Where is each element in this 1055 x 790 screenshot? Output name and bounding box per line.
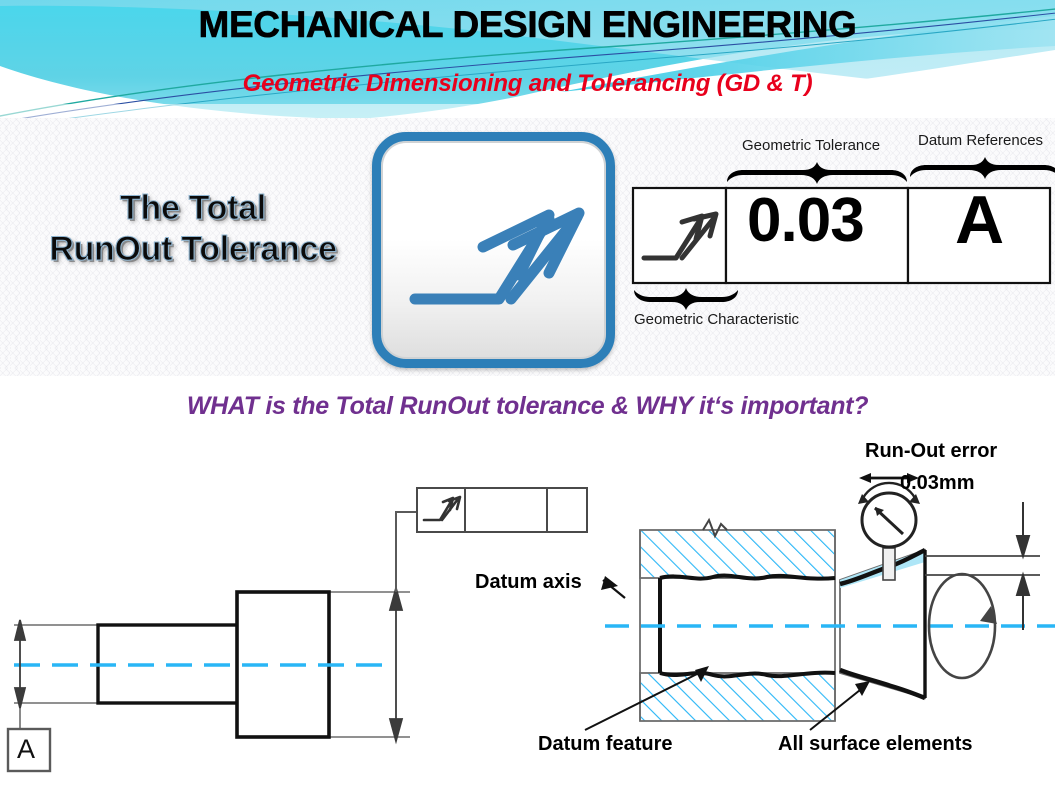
total-runout-icon-tile — [372, 132, 615, 368]
feature-control-frame-diagram: Geometric Tolerance Datum References Geo… — [630, 132, 1055, 342]
slide-subtitle: Geometric Dimensioning and Tolerancing (… — [0, 70, 1055, 98]
section-question-text: WHAT is the Total RunOut tolerance & WHY… — [0, 392, 1055, 421]
datum-a-label: A — [17, 734, 35, 765]
hero-title-line2: RunOut Tolerance — [8, 229, 378, 270]
fcf-label-datum-references: Datum References — [918, 132, 1043, 149]
slide-main-title: MECHANICAL DESIGN ENGINEERING — [0, 4, 1055, 46]
hero-title: The Total RunOut Tolerance — [8, 188, 378, 271]
fcf-label-geometric-tolerance: Geometric Tolerance — [742, 137, 880, 154]
fcf-tolerance-value: 0.03 — [747, 190, 864, 252]
label-all-surface-elements: All surface elements — [778, 733, 973, 756]
hero-title-line1: The Total — [8, 188, 378, 229]
fcf-label-geometric-characteristic: Geometric Characteristic — [634, 311, 799, 328]
label-datum-feature: Datum feature — [538, 733, 672, 756]
label-runout-error-line1: Run-Out error — [865, 440, 997, 463]
label-datum-axis: Datum axis — [475, 571, 582, 594]
total-runout-symbol-icon — [381, 141, 606, 359]
header-banner: MECHANICAL DESIGN ENGINEERING Geometric … — [0, 0, 1055, 122]
label-runout-error-line2: 0.03mm — [900, 472, 975, 495]
slide-canvas: MECHANICAL DESIGN ENGINEERING Geometric … — [0, 0, 1055, 790]
fcf-datum-letter: A — [955, 186, 1004, 254]
